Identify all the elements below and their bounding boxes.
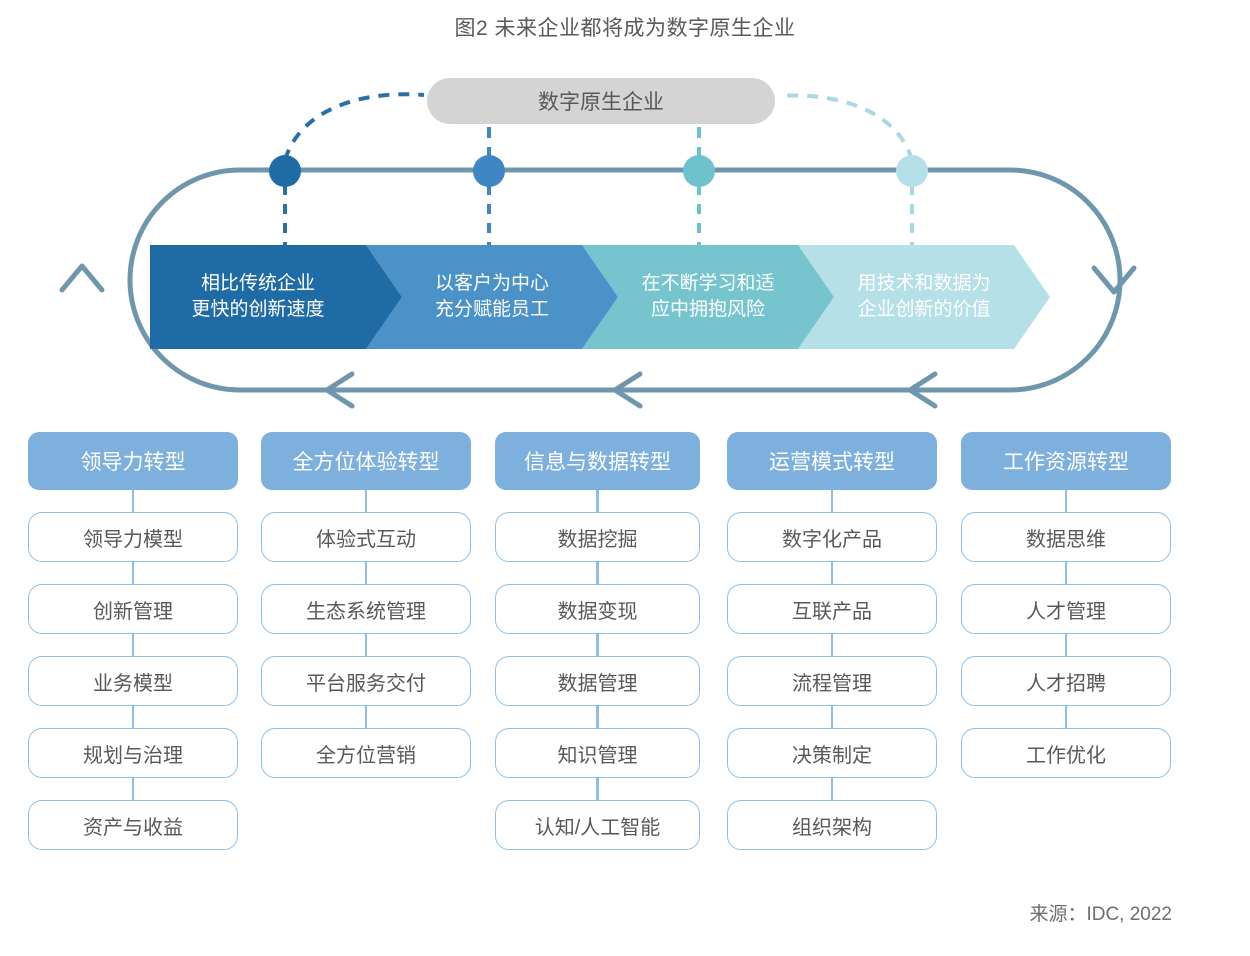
stage-chevron-1[interactable]: 相比传统企业更快的创新速度 [150, 245, 402, 349]
capability-label: 组织架构 [792, 811, 872, 840]
capability-label: 工作优化 [1026, 739, 1106, 768]
capability-label: 领导力模型 [83, 523, 183, 552]
capability-label: 资产与收益 [83, 811, 183, 840]
connector-line [132, 562, 134, 584]
connector-line [132, 706, 134, 728]
capability-label: 数据变现 [558, 595, 638, 624]
capability-item[interactable]: 业务模型 [28, 656, 238, 706]
capability-item[interactable]: 工作优化 [961, 728, 1171, 778]
stage-dot-4 [896, 155, 928, 187]
capability-label: 数据管理 [558, 667, 638, 696]
connector-line [831, 778, 833, 800]
hub-pill[interactable]: 数字原生企业 [427, 78, 775, 124]
capability-item[interactable]: 资产与收益 [28, 800, 238, 850]
connector-line [365, 706, 367, 728]
stage-dot-2 [473, 155, 505, 187]
column-3: 信息与数据转型数据挖掘数据变现数据管理知识管理认知/人工智能 [495, 432, 700, 850]
capability-label: 规划与治理 [83, 739, 183, 768]
column-header-label: 全方位体验转型 [293, 446, 440, 476]
connector-line [596, 634, 598, 656]
stage-text-line1: 在不断学习和适 [641, 271, 774, 297]
stage-text-line2: 更快的创新速度 [191, 297, 324, 323]
stage-chevron-3[interactable]: 在不断学习和适应中拥抱风险 [582, 245, 834, 349]
capability-item[interactable]: 数字化产品 [727, 512, 937, 562]
capability-label: 全方位营销 [316, 739, 416, 768]
column-4: 运营模式转型数字化产品互联产品流程管理决策制定组织架构 [727, 432, 937, 850]
capability-label: 体验式互动 [316, 523, 416, 552]
capability-item[interactable]: 数据思维 [961, 512, 1171, 562]
connector-line [831, 562, 833, 584]
stage-text-line2: 充分赋能员工 [435, 297, 549, 323]
connector-line [596, 706, 598, 728]
capability-label: 认知/人工智能 [535, 811, 661, 840]
connector-line [132, 778, 134, 800]
capability-label: 数字化产品 [782, 523, 882, 552]
connector-line [365, 562, 367, 584]
column-header-5[interactable]: 工作资源转型 [961, 432, 1171, 490]
column-header-label: 信息与数据转型 [524, 446, 671, 476]
capability-item[interactable]: 领导力模型 [28, 512, 238, 562]
stage-dashed-links [285, 185, 912, 245]
column-2: 全方位体验转型体验式互动生态系统管理平台服务交付全方位营销 [261, 432, 471, 778]
capability-item[interactable]: 规划与治理 [28, 728, 238, 778]
connector-line [831, 490, 833, 512]
capability-label: 互联产品 [792, 595, 872, 624]
stage-dot-1 [269, 155, 301, 187]
column-5: 工作资源转型数据思维人才管理人才招聘工作优化 [961, 432, 1171, 778]
capability-label: 人才管理 [1026, 595, 1106, 624]
connector-line [1065, 634, 1067, 656]
column-header-2[interactable]: 全方位体验转型 [261, 432, 471, 490]
capability-label: 流程管理 [792, 667, 872, 696]
stage-text-line1: 以客户为中心 [435, 271, 549, 297]
stage-text-line2: 企业创新的价值 [857, 297, 990, 323]
capability-item[interactable]: 数据管理 [495, 656, 700, 706]
source-note: 来源：IDC, 2022 [1029, 899, 1172, 926]
capability-item[interactable]: 全方位营销 [261, 728, 471, 778]
connector-line [596, 562, 598, 584]
capability-item[interactable]: 决策制定 [727, 728, 937, 778]
capability-label: 人才招聘 [1026, 667, 1106, 696]
diagram-canvas: 图2 未来企业都将成为数字原生企业 [0, 0, 1250, 956]
stage-text-line2: 应中拥抱风险 [641, 297, 774, 323]
capability-item[interactable]: 人才管理 [961, 584, 1171, 634]
capability-item[interactable]: 互联产品 [727, 584, 937, 634]
connector-line [596, 778, 598, 800]
hub-label: 数字原生企业 [538, 86, 664, 116]
capability-item[interactable]: 数据挖掘 [495, 512, 700, 562]
connector-line [596, 490, 598, 512]
stage-dot-3 [683, 155, 715, 187]
capability-label: 数据挖掘 [558, 523, 638, 552]
column-header-3[interactable]: 信息与数据转型 [495, 432, 700, 490]
column-header-4[interactable]: 运营模式转型 [727, 432, 937, 490]
stage-chevron-2[interactable]: 以客户为中心充分赋能员工 [366, 245, 618, 349]
connector-line [1065, 562, 1067, 584]
capability-item[interactable]: 认知/人工智能 [495, 800, 700, 850]
stage-chevron-band: 相比传统企业更快的创新速度以客户为中心充分赋能员工在不断学习和适应中拥抱风险用技… [150, 245, 1050, 349]
capability-label: 知识管理 [558, 739, 638, 768]
capability-item[interactable]: 平台服务交付 [261, 656, 471, 706]
cycle-loop-graphic [0, 0, 1250, 430]
connector-line [831, 634, 833, 656]
connector-line [1065, 490, 1067, 512]
column-header-label: 领导力转型 [81, 446, 186, 476]
capability-item[interactable]: 生态系统管理 [261, 584, 471, 634]
capability-label: 决策制定 [792, 739, 872, 768]
capability-item[interactable]: 体验式互动 [261, 512, 471, 562]
connector-line [1065, 706, 1067, 728]
stage-text-line1: 用技术和数据为 [857, 271, 990, 297]
capability-label: 业务模型 [93, 667, 173, 696]
capability-label: 创新管理 [93, 595, 173, 624]
capability-item[interactable]: 流程管理 [727, 656, 937, 706]
transformation-columns: 领导力转型领导力模型创新管理业务模型规划与治理资产与收益全方位体验转型体验式互动… [0, 432, 1250, 872]
connector-line [365, 634, 367, 656]
capability-item[interactable]: 创新管理 [28, 584, 238, 634]
connector-line [831, 706, 833, 728]
capability-item[interactable]: 知识管理 [495, 728, 700, 778]
stage-chevron-4[interactable]: 用技术和数据为企业创新的价值 [798, 245, 1050, 349]
connector-line [132, 634, 134, 656]
capability-item[interactable]: 组织架构 [727, 800, 937, 850]
capability-label: 生态系统管理 [306, 595, 426, 624]
capability-item[interactable]: 人才招聘 [961, 656, 1171, 706]
column-1: 领导力转型领导力模型创新管理业务模型规划与治理资产与收益 [28, 432, 238, 850]
column-header-1[interactable]: 领导力转型 [28, 432, 238, 490]
column-header-label: 运营模式转型 [769, 446, 895, 476]
stage-text-line1: 相比传统企业 [191, 271, 324, 297]
capability-label: 平台服务交付 [306, 667, 426, 696]
connector-line [365, 490, 367, 512]
column-header-label: 工作资源转型 [1003, 446, 1129, 476]
capability-item[interactable]: 数据变现 [495, 584, 700, 634]
capability-label: 数据思维 [1026, 523, 1106, 552]
connector-line [132, 490, 134, 512]
